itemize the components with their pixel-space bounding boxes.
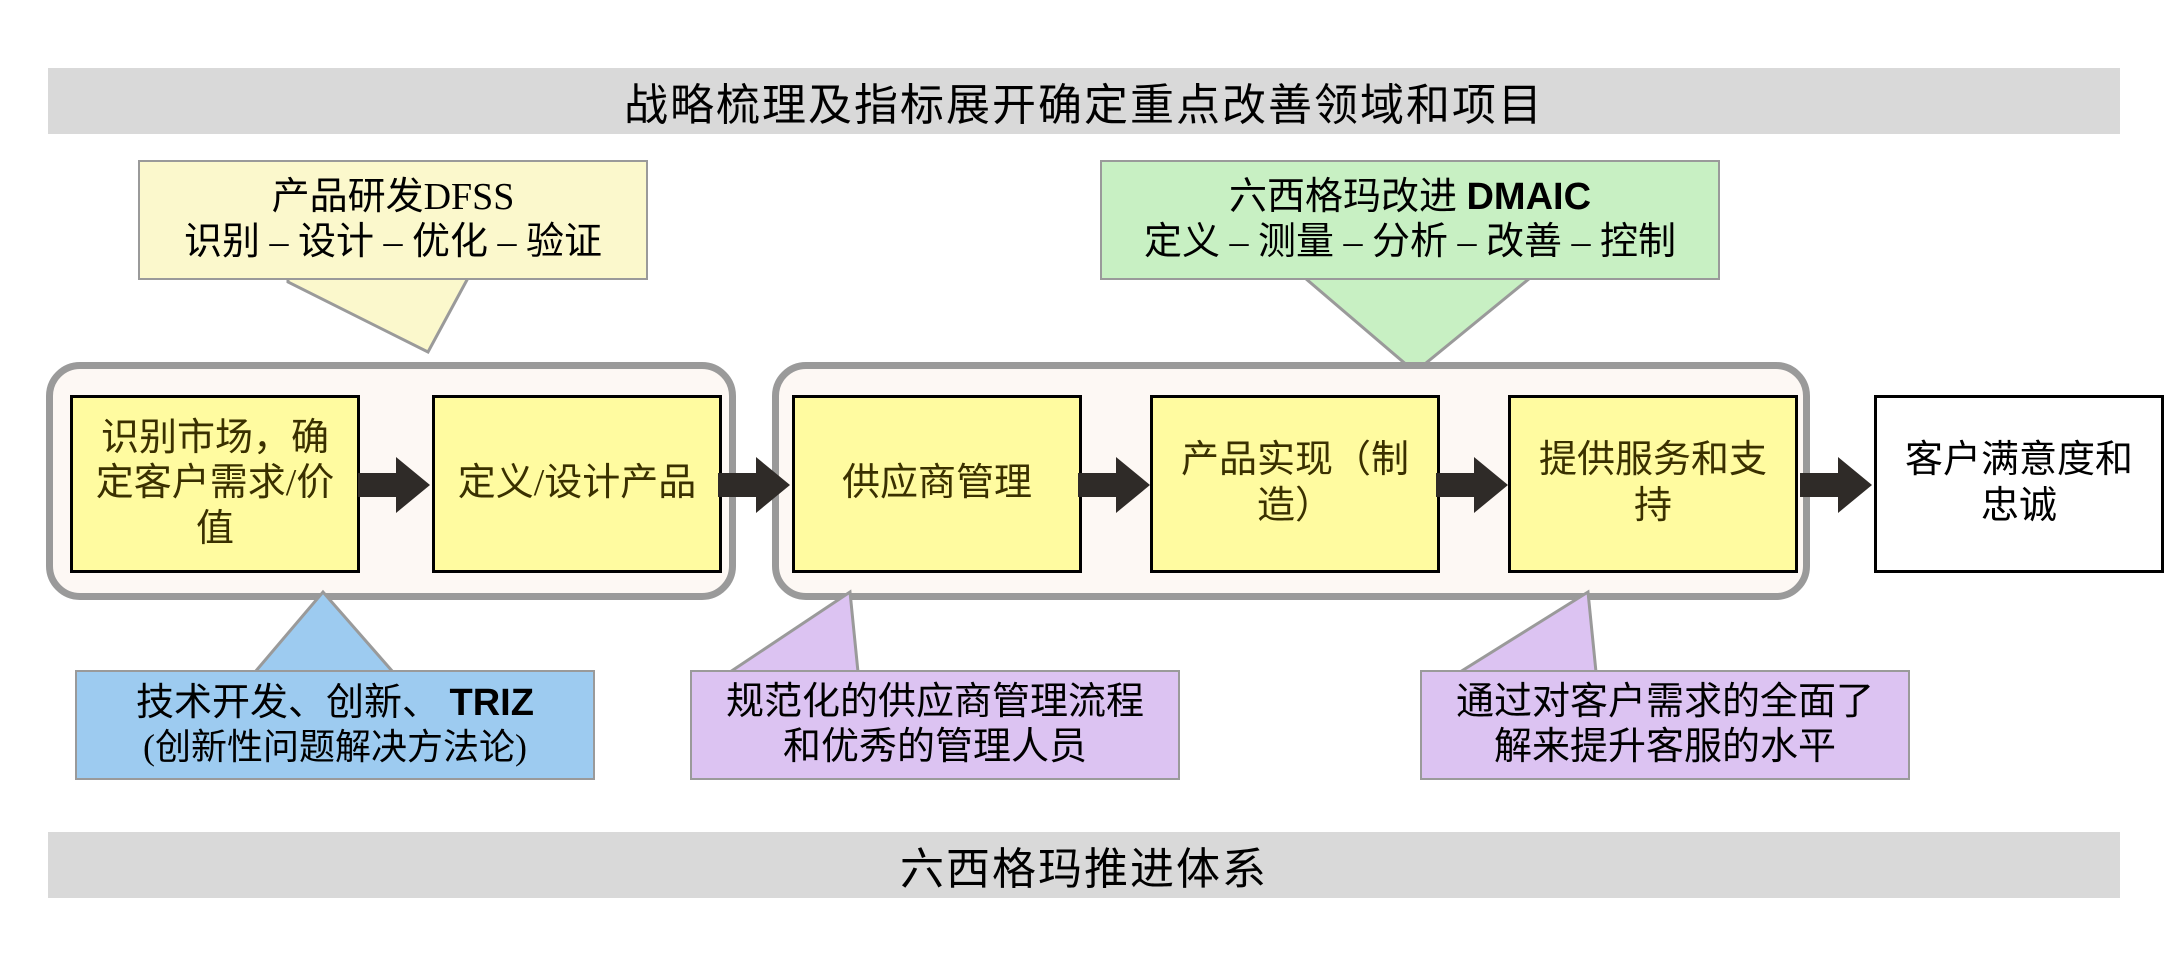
callout-dmaic-line1: 六西格玛改进 DMAIC [1229, 175, 1591, 220]
callout-triz-line1-bold: TRIZ [450, 682, 534, 724]
callout-triz-body: 技术开发、创新、 TRIZ (创新性问题解决方法论) [75, 670, 595, 780]
bottom-banner-text: 六西格玛推进体系 [900, 833, 1268, 897]
top-banner-text: 战略梳理及指标展开确定重点改善领域和项目 [624, 69, 1544, 133]
arrow-right-icon-4 [1436, 455, 1508, 515]
callout-dfss-line1: 产品研发DFSS [272, 175, 515, 220]
callout-supplier-note: 规范化的供应商管理流程 和优秀的管理人员 [690, 590, 1180, 790]
arrow-right-icon-3 [1078, 455, 1150, 515]
process-box-product-realization[interactable]: 产品实现（制造） [1150, 395, 1440, 573]
diagram-canvas: 战略梳理及指标展开确定重点改善领域和项目 产品研发DFSS 识别 – 设计 – … [0, 0, 2168, 964]
callout-triz-line1-plain: 技术开发、创新、 [136, 682, 450, 724]
callout-dfss-body: 产品研发DFSS 识别 – 设计 – 优化 – 验证 [138, 160, 648, 280]
top-banner: 战略梳理及指标展开确定重点改善领域和项目 [48, 68, 2120, 134]
arrow-right-icon-1 [358, 455, 430, 515]
callout-dmaic-line2: 定义 – 测量 – 分析 – 改善 – 控制 [1144, 220, 1676, 265]
callout-dmaic-line1-bold: DMAIC [1466, 176, 1591, 218]
callout-supplier-note-body: 规范化的供应商管理流程 和优秀的管理人员 [690, 670, 1180, 780]
process-box-identify-market[interactable]: 识别市场，确定客户需求/价值 [70, 395, 360, 573]
arrow-right-icon-5 [1800, 455, 1872, 515]
callout-dmaic: 六西格玛改进 DMAIC 定义 – 测量 – 分析 – 改善 – 控制 [1100, 160, 1720, 390]
callout-dfss: 产品研发DFSS 识别 – 设计 – 优化 – 验证 [138, 160, 648, 370]
outcome-box-customer-satisfaction[interactable]: 客户满意度和忠诚 [1874, 395, 2164, 573]
callout-service-note-line2: 解来提升客服的水平 [1494, 725, 1836, 770]
bottom-banner: 六西格玛推进体系 [48, 832, 2120, 898]
callout-service-note-body: 通过对客户需求的全面了 解来提升客服的水平 [1420, 670, 1910, 780]
callout-supplier-note-line2: 和优秀的管理人员 [783, 725, 1087, 770]
callout-triz: 技术开发、创新、 TRIZ (创新性问题解决方法论) [75, 590, 595, 790]
callout-dmaic-body: 六西格玛改进 DMAIC 定义 – 测量 – 分析 – 改善 – 控制 [1100, 160, 1720, 280]
callout-service-note: 通过对客户需求的全面了 解来提升客服的水平 [1420, 590, 1910, 790]
arrow-right-icon-2 [718, 455, 790, 515]
callout-service-note-line1: 通过对客户需求的全面了 [1456, 680, 1874, 725]
process-box-supplier-management[interactable]: 供应商管理 [792, 395, 1082, 573]
callout-triz-line1: 技术开发、创新、 TRIZ [136, 681, 534, 726]
callout-triz-line2: (创新性问题解决方法论) [143, 726, 527, 768]
process-box-define-design-product[interactable]: 定义/设计产品 [432, 395, 722, 573]
callout-supplier-note-line1: 规范化的供应商管理流程 [726, 680, 1144, 725]
callout-dfss-line2: 识别 – 设计 – 优化 – 验证 [184, 220, 602, 265]
process-box-service-support[interactable]: 提供服务和支持 [1508, 395, 1798, 573]
callout-dmaic-line1-plain: 六西格玛改进 [1229, 176, 1467, 218]
